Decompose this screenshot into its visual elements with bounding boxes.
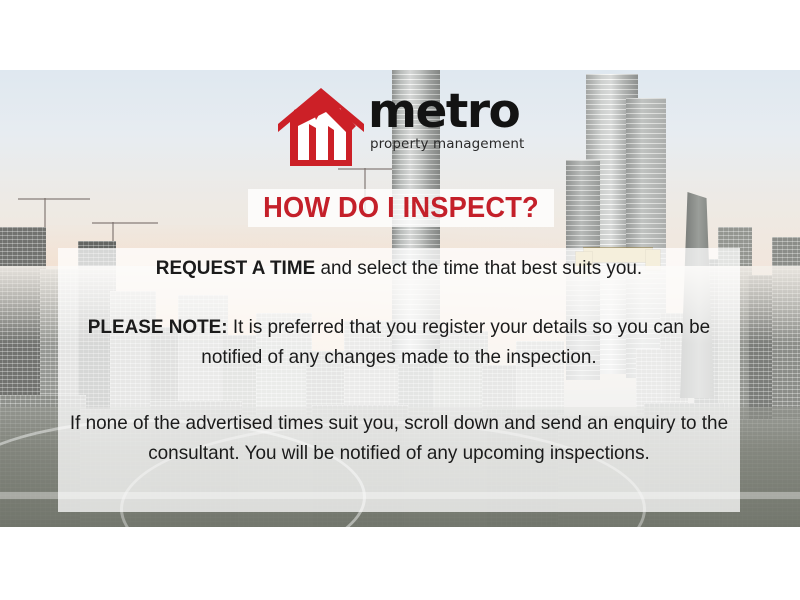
construction-crane-icon <box>18 198 90 200</box>
slide-canvas: metro property management HOW DO I INSPE… <box>0 0 800 600</box>
logo-wordmark-text: metro <box>368 88 524 136</box>
instruction-paragraph-1: REQUEST A TIME and select the time that … <box>68 253 730 283</box>
metro-logo: metro property management <box>278 86 530 168</box>
please-note-lead: PLEASE NOTE: <box>88 316 228 338</box>
page-title: HOW DO I INSPECT? <box>257 189 545 227</box>
text-overlay-panel <box>58 248 740 512</box>
construction-crane-icon <box>92 222 158 224</box>
metro-house-m-logo-icon <box>278 86 364 168</box>
logo-tagline: property management <box>370 137 524 152</box>
instruction-paragraph-1-rest: and select the time that best suits you. <box>315 257 642 279</box>
instruction-paragraph-3: If none of the advertised times suit you… <box>68 408 730 468</box>
request-a-time-lead: REQUEST A TIME <box>156 257 315 279</box>
construction-crane-icon <box>338 168 396 170</box>
instruction-paragraph-3-text: If none of the advertised times suit you… <box>70 412 728 464</box>
metro-wordmark: metro property management <box>368 86 524 152</box>
instruction-paragraph-2: PLEASE NOTE: It is preferred that you re… <box>68 312 730 372</box>
instruction-paragraph-2-rest: It is preferred that you register your d… <box>201 316 710 368</box>
